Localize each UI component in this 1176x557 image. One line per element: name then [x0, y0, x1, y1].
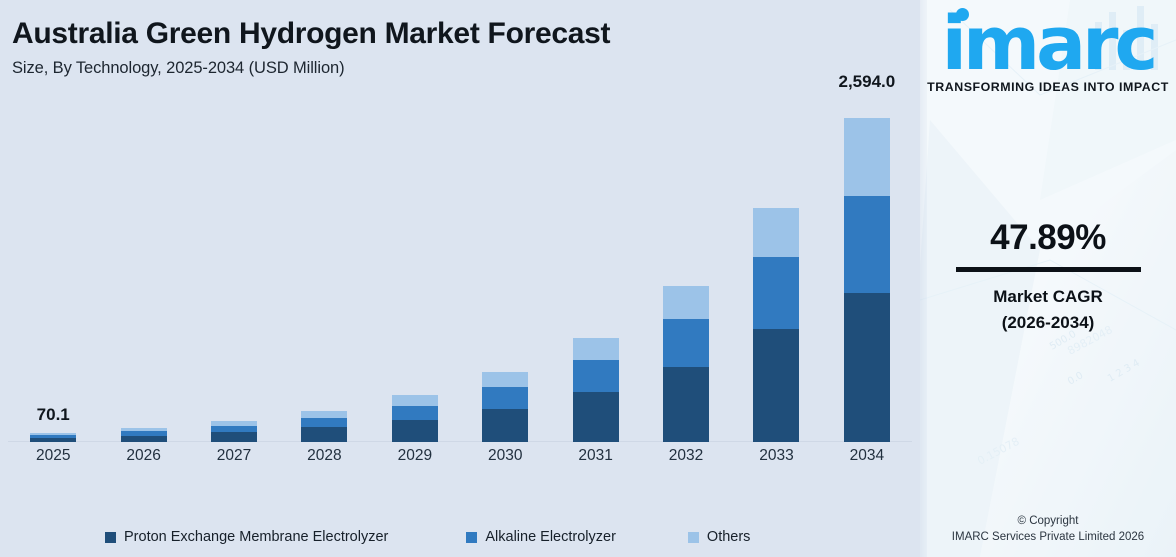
bar-slot [641, 118, 731, 442]
copyright-line2: IMARC Services Private Limited 2026 [920, 529, 1176, 546]
bar-segment[interactable] [301, 418, 347, 428]
legend-swatch-icon [688, 532, 699, 543]
x-axis-tick-2032: 2032 [641, 447, 731, 465]
brand-panel: 0.15078 8982048 500.0 0.0 1 2 3 4 imarc … [920, 0, 1176, 557]
stacked-bar[interactable] [753, 208, 799, 442]
stacked-bar[interactable] [663, 286, 709, 442]
chart-subtitle: Size, By Technology, 2025-2034 (USD Mill… [12, 59, 610, 78]
x-axis-tick-2027: 2027 [189, 447, 279, 465]
bar-segment[interactable] [573, 360, 619, 392]
bar-segment[interactable] [844, 118, 890, 196]
legend-swatch-icon [105, 532, 116, 543]
plot-area: 70.12,594.0 2025202620272028202920302031… [0, 118, 920, 469]
bar-segment[interactable] [753, 257, 799, 329]
bar-slot [98, 118, 188, 442]
legend-label: Alkaline Electrolyzer [485, 529, 616, 545]
bar-segment[interactable] [301, 411, 347, 418]
stacked-bar[interactable] [301, 411, 347, 442]
x-axis-tick-2025: 2025 [8, 447, 98, 465]
copyright-line1: © Copyright [920, 513, 1176, 530]
x-axis-tick-2028: 2028 [279, 447, 369, 465]
legend-swatch-icon [466, 532, 477, 543]
bar-segment[interactable] [573, 338, 619, 361]
bar-slot [550, 118, 640, 442]
bar-slot: 70.1 [8, 118, 98, 442]
bar-segment[interactable] [573, 392, 619, 442]
x-axis-tick-2030: 2030 [460, 447, 550, 465]
bar-segment[interactable] [753, 329, 799, 442]
bar-segment[interactable] [392, 420, 438, 442]
x-axis-tick-2034: 2034 [822, 447, 912, 465]
bar-segment[interactable] [392, 395, 438, 405]
legend-item[interactable]: Others [688, 529, 751, 545]
x-axis-tick-2026: 2026 [98, 447, 188, 465]
legend-label: Proton Exchange Membrane Electrolyzer [124, 529, 388, 545]
stacked-bar[interactable] [573, 337, 619, 442]
bar-value-label: 70.1 [37, 405, 70, 425]
bar-segment[interactable] [301, 427, 347, 442]
bar-segment[interactable] [753, 208, 799, 257]
legend-item[interactable]: Proton Exchange Membrane Electrolyzer [105, 529, 388, 545]
stacked-bar[interactable] [482, 372, 528, 442]
bar-segment[interactable] [663, 319, 709, 367]
stacked-bar[interactable] [121, 428, 167, 442]
bar-slot [731, 118, 821, 442]
bar-slot [279, 118, 369, 442]
legend-item[interactable]: Alkaline Electrolyzer [466, 529, 616, 545]
x-axis-tick-2033: 2033 [731, 447, 821, 465]
logo-text: imarc [942, 14, 1155, 75]
chart-legend: Proton Exchange Membrane ElectrolyzerAlk… [0, 529, 920, 545]
cagr-block: 47.89% Market CAGR (2026-2034) [920, 218, 1176, 335]
bar-group: 70.12,594.0 [8, 118, 912, 442]
cagr-value: 47.89% [920, 218, 1176, 258]
stacked-bar[interactable] [211, 421, 257, 442]
bar-segment[interactable] [392, 406, 438, 420]
cagr-label-line2: (2026-2034) [920, 310, 1176, 336]
bar-segment[interactable] [663, 367, 709, 442]
copyright-notice: © Copyright IMARC Services Private Limit… [920, 513, 1176, 546]
x-axis-tick-2031: 2031 [550, 447, 640, 465]
logo-dot-icon [956, 8, 969, 21]
bar-segment[interactable] [663, 286, 709, 319]
legend-label: Others [707, 529, 751, 545]
chart-header: Australia Green Hydrogen Market Forecast… [12, 16, 610, 78]
bar-slot: 2,594.0 [822, 118, 912, 442]
cagr-label-line1: Market CAGR [920, 284, 1176, 310]
bar-value-label: 2,594.0 [838, 72, 895, 92]
bar-slot [370, 118, 460, 442]
bar-segment[interactable] [211, 432, 257, 442]
stacked-bar[interactable] [844, 118, 890, 442]
bar-slot [189, 118, 279, 442]
cagr-divider [956, 267, 1141, 272]
x-axis: 2025202620272028202920302031203220332034 [8, 442, 912, 469]
page-title: Australia Green Hydrogen Market Forecast [12, 16, 610, 51]
stacked-bar[interactable] [392, 395, 438, 442]
bar-segment[interactable] [844, 293, 890, 442]
chart-panel: Australia Green Hydrogen Market Forecast… [0, 0, 920, 557]
brand-logo: imarc TRANSFORMING IDEAS INTO IMPACT [920, 14, 1176, 94]
bar-segment[interactable] [482, 409, 528, 442]
bar-segment[interactable] [482, 372, 528, 387]
x-axis-tick-2029: 2029 [370, 447, 460, 465]
bar-segment[interactable] [482, 387, 528, 408]
stacked-bar[interactable] [30, 433, 76, 442]
bar-slot [460, 118, 550, 442]
bar-segment[interactable] [844, 196, 890, 293]
